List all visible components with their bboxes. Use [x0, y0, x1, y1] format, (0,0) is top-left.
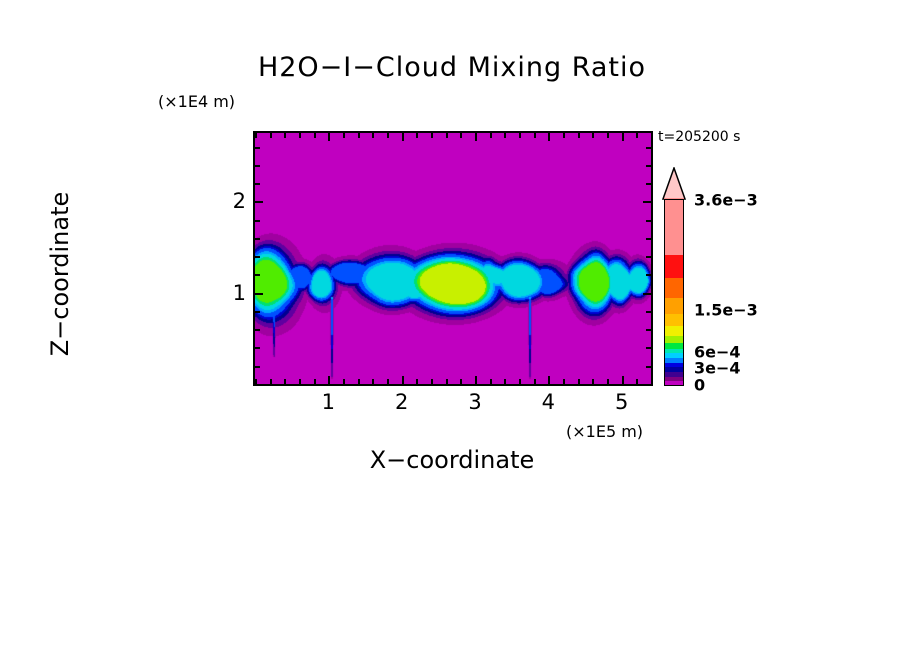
axis-tick: [255, 347, 260, 349]
axis-tick: [255, 366, 260, 368]
colorbar-band: [664, 278, 684, 298]
colorbar-label: 0: [694, 376, 705, 395]
axis-tick: [387, 379, 389, 384]
axis-tick: [416, 133, 418, 138]
axis-tick: [622, 133, 624, 141]
colorbar-band: [664, 376, 684, 381]
axis-tick: [402, 133, 404, 141]
axis-tick: [255, 183, 260, 185]
axis-tick: [446, 379, 448, 384]
axis-tick: [460, 133, 462, 138]
axis-tick: [578, 379, 580, 384]
colorbar-band: [664, 325, 684, 336]
axis-tick: [255, 293, 263, 295]
axis-tick: [255, 201, 263, 203]
axis-tick: [490, 133, 492, 138]
axis-tick: [504, 379, 506, 384]
axis-tick: [646, 183, 651, 185]
axis-tick: [643, 201, 651, 203]
x-axis-unit-label: (×1E5 m): [566, 422, 643, 441]
axis-tick: [255, 256, 260, 258]
colorbar-band: [664, 371, 684, 376]
axis-tick: [255, 238, 260, 240]
axis-tick: [343, 379, 345, 384]
x-tick-label: 3: [468, 390, 481, 414]
x-axis-title: X−coordinate: [0, 446, 904, 474]
axis-tick: [270, 133, 272, 138]
axis-tick: [299, 133, 301, 138]
colorbar-band: [664, 348, 684, 353]
chart-title: H2O−I−Cloud Mixing Ratio: [0, 52, 904, 83]
axis-tick: [563, 133, 565, 138]
x-tick-label: 5: [615, 390, 628, 414]
axis-tick: [651, 133, 653, 138]
axis-tick: [402, 376, 404, 384]
axis-tick: [651, 379, 653, 384]
axis-tick: [255, 311, 260, 313]
axis-tick: [607, 133, 609, 138]
y-axis-title: Z−coordinate: [46, 124, 74, 424]
axis-tick: [255, 329, 260, 331]
colorbar-arrow-cap: [661, 167, 687, 200]
axis-tick: [284, 379, 286, 384]
colorbar-band: [664, 198, 684, 254]
axis-tick: [328, 133, 330, 141]
axis-tick: [563, 379, 565, 384]
colorbar-band: [664, 358, 684, 363]
colorbar-band: [664, 353, 684, 358]
axis-tick: [446, 133, 448, 138]
axis-tick: [607, 379, 609, 384]
axis-tick: [622, 376, 624, 384]
axis-tick: [299, 379, 301, 384]
axis-tick: [646, 147, 651, 149]
axis-tick: [636, 133, 638, 138]
axis-tick: [519, 133, 521, 138]
axis-tick: [284, 133, 286, 138]
axis-tick: [255, 384, 260, 386]
axis-tick: [314, 133, 316, 138]
colorbar-label: 3.6e−3: [694, 191, 758, 210]
axis-tick: [646, 329, 651, 331]
axis-tick: [548, 376, 550, 384]
x-tick-label: 2: [395, 390, 408, 414]
axis-tick: [646, 238, 651, 240]
colorbar-label: 1.5e−3: [694, 301, 758, 320]
axis-tick: [646, 366, 651, 368]
axis-tick: [372, 133, 374, 138]
axis-tick: [646, 274, 651, 276]
axis-tick: [646, 220, 651, 222]
axis-tick: [490, 379, 492, 384]
colorbar-band: [664, 254, 684, 278]
axis-tick: [636, 379, 638, 384]
colorbar-band: [664, 362, 684, 367]
axis-tick: [646, 311, 651, 313]
axis-tick: [314, 379, 316, 384]
axis-tick: [534, 379, 536, 384]
axis-tick: [646, 384, 651, 386]
axis-tick: [372, 379, 374, 384]
axis-tick: [519, 379, 521, 384]
axis-tick: [646, 256, 651, 258]
colorbar-band: [664, 343, 684, 349]
axis-tick: [255, 133, 257, 138]
axis-tick: [548, 133, 550, 141]
axis-tick: [328, 376, 330, 384]
axis-tick: [475, 376, 477, 384]
axis-tick: [592, 379, 594, 384]
axis-tick: [504, 133, 506, 138]
axis-tick: [343, 133, 345, 138]
axis-tick: [358, 379, 360, 384]
axis-tick: [387, 133, 389, 138]
axis-tick: [358, 133, 360, 138]
colorbar-band: [664, 297, 684, 314]
axis-tick: [255, 165, 260, 167]
axis-tick: [646, 347, 651, 349]
axis-tick: [534, 133, 536, 138]
axis-tick: [431, 379, 433, 384]
y-axis-unit-label: (×1E4 m): [158, 92, 235, 111]
axis-tick: [416, 379, 418, 384]
contour-field-canvas: [255, 133, 651, 384]
timestamp-label: t=205200 s: [658, 129, 740, 145]
y-tick-label: 1: [228, 281, 246, 305]
axis-tick: [475, 133, 477, 141]
colorbar-band: [664, 335, 684, 343]
contour-plot-area: [253, 131, 653, 386]
axis-tick: [255, 274, 260, 276]
axis-tick: [592, 133, 594, 138]
axis-tick: [255, 220, 260, 222]
axis-tick: [255, 147, 260, 149]
colorbar-band: [664, 314, 684, 326]
axis-tick: [431, 133, 433, 138]
colorbar-band: [664, 381, 684, 386]
x-tick-label: 1: [322, 390, 335, 414]
colorbar-band: [664, 367, 684, 372]
colorbar: [664, 199, 684, 386]
x-tick-label: 4: [542, 390, 555, 414]
axis-tick: [643, 293, 651, 295]
axis-tick: [578, 133, 580, 138]
y-tick-label: 2: [228, 189, 246, 213]
axis-tick: [646, 165, 651, 167]
axis-tick: [270, 379, 272, 384]
axis-tick: [460, 379, 462, 384]
